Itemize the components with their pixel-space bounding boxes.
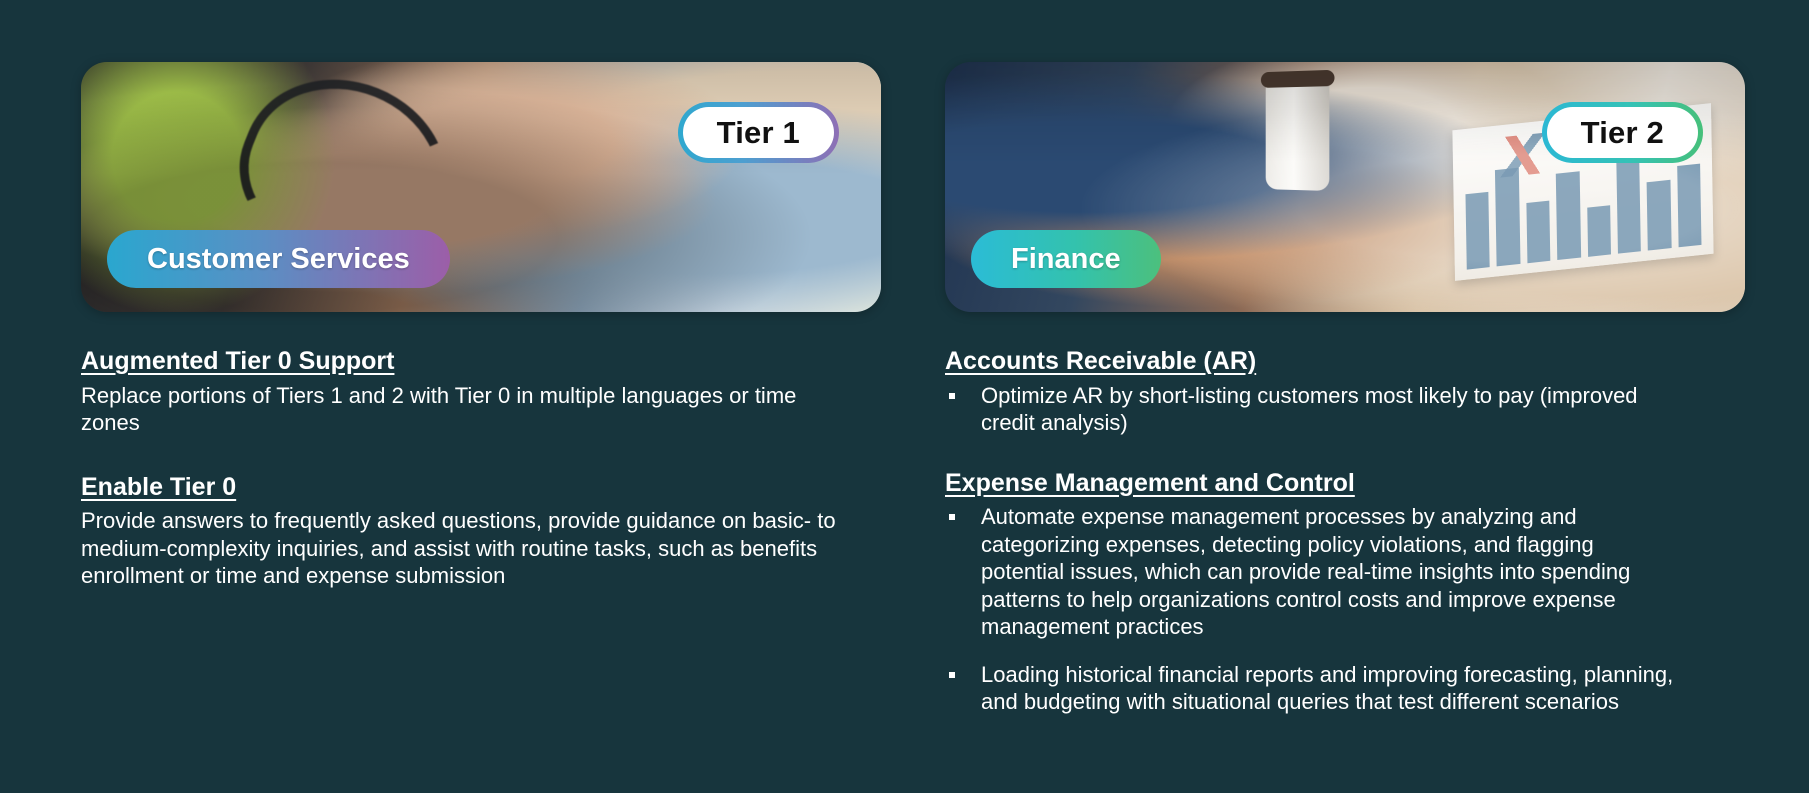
list-item-text: Optimize AR by short-listing customers m… <box>981 383 1638 436</box>
customer-services-content: Augmented Tier 0 Support Replace portion… <box>81 345 881 612</box>
bullet-list: Optimize AR by short-listing customers m… <box>945 382 1745 437</box>
tier-badge-customer-services: Tier 1 <box>678 102 839 163</box>
section-augmented-tier-0-support: Augmented Tier 0 Support Replace portion… <box>81 345 881 437</box>
section-expense-management: Expense Management and Control Automate … <box>945 467 1745 716</box>
list-item: Automate expense management processes by… <box>945 503 1681 641</box>
tier-badge-label: Tier 2 <box>1547 107 1698 158</box>
bullet-square-icon <box>949 672 955 678</box>
section-enable-tier-0: Enable Tier 0 Provide answers to frequen… <box>81 471 881 590</box>
list-item-text: Loading historical financial reports and… <box>981 662 1673 715</box>
section-title: Enable Tier 0 <box>81 471 881 504</box>
slide-root: Tier 1 Customer Services Augmented Tier … <box>0 0 1809 793</box>
bullet-square-icon <box>949 393 955 399</box>
department-badge-finance: Finance <box>971 230 1161 288</box>
bullet-list: Automate expense management processes by… <box>945 503 1745 716</box>
section-title: Accounts Receivable (AR) <box>945 345 1745 378</box>
list-item-text: Automate expense management processes by… <box>981 504 1630 639</box>
finance-content: Accounts Receivable (AR) Optimize AR by … <box>945 345 1745 738</box>
tier-badge-label: Tier 1 <box>683 107 834 158</box>
customer-services-card: Tier 1 Customer Services <box>81 62 881 312</box>
section-title: Expense Management and Control <box>945 467 1745 500</box>
section-body: Provide answers to frequently asked ques… <box>81 507 841 590</box>
tier-badge-finance: Tier 2 <box>1542 102 1703 163</box>
section-body: Replace portions of Tiers 1 and 2 with T… <box>81 382 841 437</box>
coffee-cup-icon <box>1266 81 1330 191</box>
department-badge-customer-services: Customer Services <box>107 230 450 288</box>
finance-card: Tier 2 Finance <box>945 62 1745 312</box>
section-title: Augmented Tier 0 Support <box>81 345 881 378</box>
list-item: Optimize AR by short-listing customers m… <box>945 382 1681 437</box>
bullet-square-icon <box>949 514 955 520</box>
list-item: Loading historical financial reports and… <box>945 661 1681 716</box>
section-accounts-receivable: Accounts Receivable (AR) Optimize AR by … <box>945 345 1745 437</box>
